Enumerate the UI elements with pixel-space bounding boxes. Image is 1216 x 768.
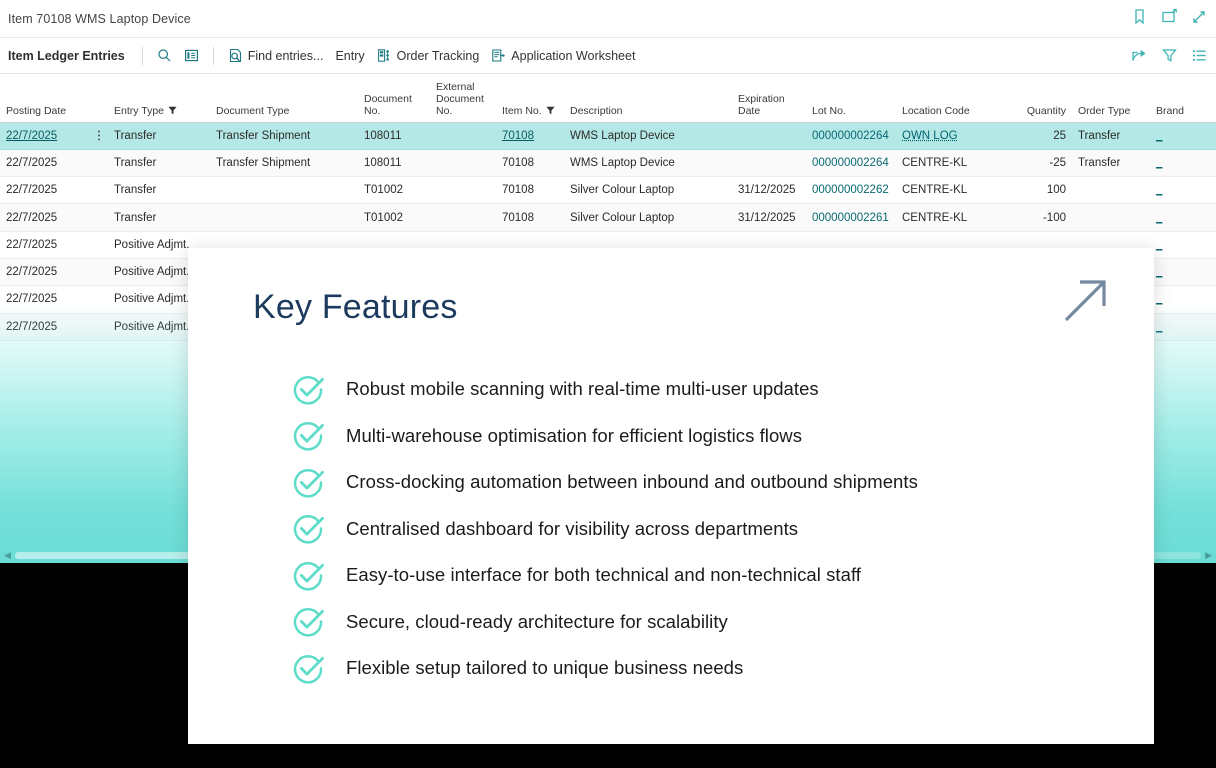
column-header-item_no[interactable]: Item No. [496, 74, 564, 122]
cell-posting_date[interactable]: 22/7/2025 [0, 204, 108, 231]
column-header-location_code[interactable]: Location Code [896, 74, 1010, 122]
cell-brand[interactable]: _ [1150, 286, 1216, 313]
cell-location_code[interactable]: CENTRE-KL [896, 149, 1010, 176]
column-header-label: Document No. [364, 93, 412, 117]
cell-text: WMS Laptop Device [570, 130, 675, 142]
cell-quantity[interactable]: 100 [1010, 177, 1072, 204]
entry-menu-button[interactable]: Entry [329, 46, 370, 66]
cell-text: 000000002261 [812, 212, 889, 224]
cell-text: _ [1156, 239, 1162, 251]
feature-label: Multi-warehouse optimisation for efficie… [346, 425, 802, 447]
cell-document_no[interactable]: 108011 [358, 122, 430, 149]
cell-text: 70108 [502, 184, 534, 196]
cell-expiration_date[interactable]: 31/12/2025 [732, 177, 806, 204]
cell-text: Transfer [1078, 130, 1120, 142]
cell-text: 25 [1053, 130, 1066, 142]
column-header-document_no[interactable]: Document No. [358, 74, 430, 122]
cell-item_no[interactable]: 70108 [496, 122, 564, 149]
collapse-icon[interactable] [1191, 8, 1208, 25]
row-menu-icon[interactable] [94, 128, 104, 143]
cell-text: 108011 [364, 157, 402, 169]
cell-description[interactable]: WMS Laptop Device [564, 149, 732, 176]
key-features-panel: Key Features Robust mobile scanning with… [188, 248, 1154, 744]
open-in-new-window-icon[interactable] [1161, 8, 1178, 25]
feature-label: Flexible setup tailored to unique busine… [346, 657, 743, 679]
column-header-label: Posting Date [6, 105, 66, 117]
find-entries-button[interactable]: Find entries... [222, 45, 330, 66]
search-button[interactable] [151, 45, 178, 66]
entry-label: Entry [335, 49, 364, 63]
table-row[interactable]: 22/7/2025TransferT0100270108Silver Colou… [0, 204, 1216, 231]
focus-panel-icon [184, 48, 199, 63]
cell-document_type[interactable]: Transfer Shipment [210, 122, 358, 149]
cell-entry_type[interactable]: Transfer [108, 149, 210, 176]
column-header-label: Item No. [502, 105, 542, 117]
cell-text: T01002 [364, 184, 403, 196]
column-header-label: Order Type [1078, 105, 1130, 117]
cell-expiration_date[interactable] [732, 149, 806, 176]
scroll-left-arrow[interactable]: ◀ [4, 551, 11, 560]
cell-text: Positive Adjmt. [114, 266, 189, 278]
bookmark-icon[interactable] [1131, 8, 1148, 25]
feature-item: Flexible setup tailored to unique busine… [292, 645, 1114, 692]
cell-brand[interactable]: _ [1150, 122, 1216, 149]
divider-2 [213, 47, 214, 65]
feature-label: Secure, cloud-ready architecture for sca… [346, 611, 728, 633]
check-circle-icon [292, 373, 325, 406]
cell-text: 22/7/2025 [6, 293, 57, 305]
order-tracking-icon [377, 48, 392, 63]
column-header-lot_no[interactable]: Lot No. [806, 74, 896, 122]
column-header-entry_type[interactable]: Entry Type [108, 74, 210, 122]
cell-expiration_date[interactable]: 31/12/2025 [732, 204, 806, 231]
cell-text: 108011 [364, 130, 402, 142]
column-header-label: External Document No. [436, 81, 484, 117]
cell-item_no[interactable]: 70108 [496, 177, 564, 204]
cell-order_type[interactable] [1072, 177, 1150, 204]
cell-order_type[interactable]: Transfer [1072, 149, 1150, 176]
cell-text: 22/7/2025 [6, 321, 57, 333]
share-icon[interactable] [1131, 47, 1148, 64]
application-worksheet-label: Application Worksheet [511, 49, 635, 63]
check-circle-icon [292, 419, 325, 452]
cell-external_document_no[interactable] [430, 204, 496, 231]
cell-posting_date[interactable]: 22/7/2025 [0, 286, 108, 313]
cell-lot_no[interactable]: 000000002261 [806, 204, 896, 231]
cell-external_document_no[interactable] [430, 149, 496, 176]
column-header-external_document_no[interactable]: External Document No. [430, 74, 496, 122]
table-row[interactable]: 22/7/2025TransferT0100270108Silver Colou… [0, 177, 1216, 204]
command-bar-title: Item Ledger Entries [8, 49, 125, 63]
cell-text: -25 [1049, 157, 1066, 169]
cell-text: Positive Adjmt. [114, 321, 189, 333]
column-header-label: Description [570, 105, 623, 117]
check-circle-icon [292, 466, 325, 499]
focus-mode-button[interactable] [178, 45, 205, 66]
scroll-right-arrow[interactable]: ▶ [1205, 551, 1212, 560]
column-header-quantity[interactable]: Quantity [1010, 74, 1072, 122]
filter-icon[interactable] [1161, 47, 1178, 64]
cell-text: Transfer [114, 212, 156, 224]
cell-location_code[interactable]: OWN LOG [896, 122, 1010, 149]
feature-item: Secure, cloud-ready architecture for sca… [292, 599, 1114, 646]
cell-item_no[interactable]: 70108 [496, 204, 564, 231]
cell-quantity[interactable]: -100 [1010, 204, 1072, 231]
cell-text: Positive Adjmt. [114, 293, 189, 305]
cell-document_type[interactable] [210, 177, 358, 204]
column-header-label: Lot No. [812, 105, 846, 117]
feature-item: Centralised dashboard for visibility acr… [292, 506, 1114, 553]
order-tracking-label: Order Tracking [397, 49, 480, 63]
cell-text: 22/7/2025 [6, 130, 57, 142]
column-header-label: Location Code [902, 105, 970, 117]
check-circle-icon [292, 605, 325, 638]
cell-lot_no[interactable]: 000000002262 [806, 177, 896, 204]
panel-title: Key Features [253, 288, 458, 327]
cell-text: _ [1156, 130, 1162, 142]
cell-brand[interactable]: _ [1150, 313, 1216, 340]
cell-text: 70108 [502, 157, 534, 169]
cell-posting_date[interactable]: 22/7/2025 [0, 149, 108, 176]
options-list-icon[interactable] [1191, 47, 1208, 64]
cell-text: _ [1156, 266, 1162, 278]
cell-posting_date[interactable]: 22/7/2025 [0, 313, 108, 340]
command-bar-right-actions [1131, 47, 1208, 64]
cell-text: 000000002264 [812, 157, 889, 169]
cell-brand[interactable]: _ [1150, 204, 1216, 231]
cell-text: WMS Laptop Device [570, 157, 675, 169]
search-icon [157, 48, 172, 63]
cell-text: Transfer [114, 130, 156, 142]
cell-text: -100 [1043, 212, 1066, 224]
cell-text: 100 [1047, 184, 1066, 196]
cell-external_document_no[interactable] [430, 177, 496, 204]
screen: Item 70108 WMS Laptop Device Item Ledger… [0, 0, 1216, 768]
cell-brand[interactable]: _ [1150, 231, 1216, 258]
cell-description[interactable]: Silver Colour Laptop [564, 204, 732, 231]
cell-text: Transfer Shipment [216, 130, 310, 142]
cell-text: _ [1156, 293, 1162, 305]
cell-order_type[interactable] [1072, 204, 1150, 231]
cell-posting_date[interactable]: 22/7/2025 [0, 258, 108, 285]
cell-text: Transfer Shipment [216, 157, 310, 169]
cell-lot_no[interactable]: 000000002264 [806, 122, 896, 149]
cell-lot_no[interactable]: 000000002264 [806, 149, 896, 176]
cell-text: 70108 [502, 130, 534, 142]
order-tracking-button[interactable]: Order Tracking [371, 45, 486, 66]
cell-text: Transfer [114, 184, 156, 196]
feature-label: Cross-docking automation between inbound… [346, 471, 918, 493]
cell-posting_date[interactable]: 22/7/2025 [0, 122, 108, 149]
cell-description[interactable]: WMS Laptop Device [564, 122, 732, 149]
cell-text: 000000002264 [812, 130, 889, 142]
divider-1 [142, 47, 143, 65]
cell-text: Silver Colour Laptop [570, 184, 674, 196]
cell-item_no[interactable]: 70108 [496, 149, 564, 176]
cell-quantity[interactable]: -25 [1010, 149, 1072, 176]
column-header-document_type[interactable]: Document Type [210, 74, 358, 122]
cell-order_type[interactable]: Transfer [1072, 122, 1150, 149]
feature-item: Cross-docking automation between inbound… [292, 459, 1114, 506]
column-header-label: Brand [1156, 105, 1184, 117]
cell-text: 22/7/2025 [6, 157, 57, 169]
cell-text: 22/7/2025 [6, 266, 57, 278]
column-filter-icon[interactable] [164, 105, 177, 117]
cell-text: _ [1156, 212, 1162, 224]
cell-text: _ [1156, 321, 1162, 333]
command-bar: Item Ledger Entries Find entries... [0, 38, 1216, 74]
cell-text: Silver Colour Laptop [570, 212, 674, 224]
feature-label: Centralised dashboard for visibility acr… [346, 518, 798, 540]
cell-document_no[interactable]: 108011 [358, 149, 430, 176]
find-entries-label: Find entries... [248, 49, 324, 63]
feature-item: Robust mobile scanning with real-time mu… [292, 366, 1114, 413]
find-entries-icon [228, 48, 243, 63]
cell-text: CENTRE-KL [902, 212, 967, 224]
column-filter-icon[interactable] [542, 105, 555, 117]
cell-location_code[interactable]: CENTRE-KL [896, 177, 1010, 204]
cell-text: Transfer [1078, 157, 1120, 169]
column-header-expiration_date[interactable]: Expiration Date [732, 74, 806, 122]
cell-external_document_no[interactable] [430, 122, 496, 149]
feature-label: Easy-to-use interface for both technical… [346, 564, 861, 586]
cell-brand[interactable]: _ [1150, 177, 1216, 204]
cell-text: CENTRE-KL [902, 184, 967, 196]
column-header-label: Entry Type [114, 105, 164, 117]
cell-text: 000000002262 [812, 184, 889, 196]
check-circle-icon [292, 512, 325, 545]
table-row[interactable]: 22/7/2025TransferTransfer Shipment108011… [0, 122, 1216, 149]
arrow-up-right-icon [1060, 274, 1112, 326]
cell-text: Positive Adjmt. [114, 239, 189, 251]
cell-text: CENTRE-KL [902, 157, 967, 169]
table-header-row: Posting DateEntry TypeDocument TypeDocum… [0, 74, 1216, 122]
cell-text: _ [1156, 184, 1162, 196]
cell-text: 22/7/2025 [6, 239, 57, 251]
cell-text: 22/7/2025 [6, 212, 57, 224]
cell-entry_type[interactable]: Transfer [108, 122, 210, 149]
page-title: Item 70108 WMS Laptop Device [8, 12, 191, 26]
features-list: Robust mobile scanning with real-time mu… [292, 366, 1114, 692]
cell-description[interactable]: Silver Colour Laptop [564, 177, 732, 204]
cell-posting_date[interactable]: 22/7/2025 [0, 177, 108, 204]
column-header-label: Expiration Date [738, 93, 785, 117]
title-bar: Item 70108 WMS Laptop Device [0, 0, 1216, 38]
table-row[interactable]: 22/7/2025TransferTransfer Shipment108011… [0, 149, 1216, 176]
cell-text: 22/7/2025 [6, 184, 57, 196]
cell-posting_date[interactable]: 22/7/2025 [0, 231, 108, 258]
column-header-description[interactable]: Description [564, 74, 732, 122]
feature-label: Robust mobile scanning with real-time mu… [346, 378, 819, 400]
application-worksheet-button[interactable]: Application Worksheet [485, 45, 641, 66]
cell-text: 31/12/2025 [738, 184, 796, 196]
feature-item: Easy-to-use interface for both technical… [292, 552, 1114, 599]
cell-document_no[interactable]: T01002 [358, 204, 430, 231]
cell-brand[interactable]: _ [1150, 149, 1216, 176]
cell-location_code[interactable]: CENTRE-KL [896, 204, 1010, 231]
cell-quantity[interactable]: 25 [1010, 122, 1072, 149]
cell-expiration_date[interactable] [732, 122, 806, 149]
cell-entry_type[interactable]: Transfer [108, 177, 210, 204]
application-worksheet-icon [491, 48, 506, 63]
column-header-label: Document Type [216, 105, 289, 117]
cell-text: T01002 [364, 212, 403, 224]
cell-entry_type[interactable]: Transfer [108, 204, 210, 231]
cell-text: _ [1156, 157, 1162, 169]
feature-item: Multi-warehouse optimisation for efficie… [292, 413, 1114, 460]
check-circle-icon [292, 652, 325, 685]
cell-text: 70108 [502, 212, 534, 224]
cell-document_no[interactable]: T01002 [358, 177, 430, 204]
cell-text: 31/12/2025 [738, 212, 796, 224]
cell-brand[interactable]: _ [1150, 258, 1216, 285]
column-header-label: Quantity [1027, 105, 1066, 117]
cell-text: Transfer [114, 157, 156, 169]
cell-document_type[interactable]: Transfer Shipment [210, 149, 358, 176]
window-controls [1131, 8, 1208, 25]
cell-text: OWN LOG [902, 130, 958, 142]
column-header-brand[interactable]: Brand [1150, 74, 1216, 122]
column-header-posting_date[interactable]: Posting Date [0, 74, 108, 122]
cell-document_type[interactable] [210, 204, 358, 231]
column-header-order_type[interactable]: Order Type [1072, 74, 1150, 122]
check-circle-icon [292, 559, 325, 592]
